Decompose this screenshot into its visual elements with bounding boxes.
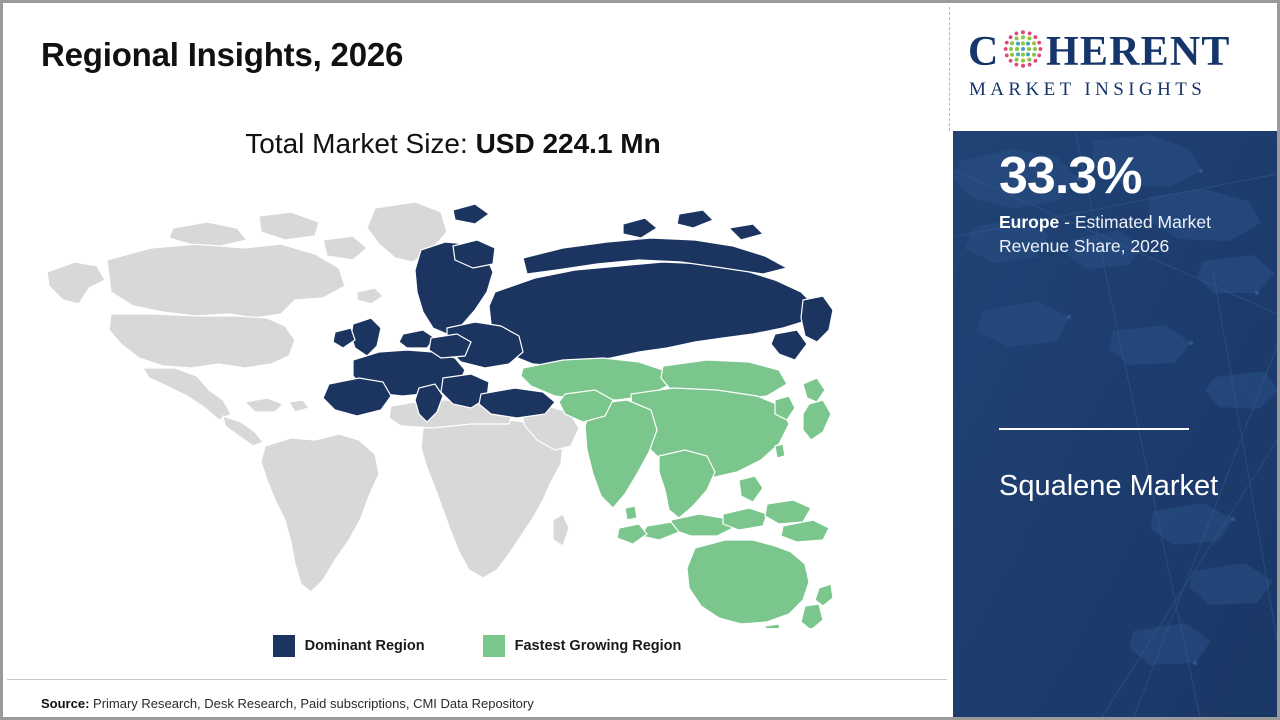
page-title: Regional Insights, 2026 [41, 36, 403, 74]
stat-caption: Europe - Estimated Market Revenue Share,… [999, 210, 1261, 260]
side-stat-panel: 33.3% Europe - Estimated Market Revenue … [953, 131, 1279, 719]
world-map [23, 188, 833, 628]
market-size-label: Total Market Size: [245, 128, 475, 159]
source-line: Source: Primary Research, Desk Research,… [41, 696, 534, 711]
source-text: Primary Research, Desk Research, Paid su… [89, 696, 533, 711]
stat-value: 33.3% [999, 149, 1261, 204]
map-legend: Dominant Region Fastest Growing Region [3, 635, 951, 657]
legend-item-dominant: Dominant Region [273, 635, 425, 657]
legend-swatch-navy [273, 635, 295, 657]
source-divider [7, 679, 947, 680]
globe-dots-icon [1002, 28, 1044, 70]
source-label: Source: [41, 696, 89, 711]
legend-swatch-green [483, 635, 505, 657]
vertical-dashed-divider [949, 7, 950, 131]
brand-logo: C HERENT [953, 7, 1279, 131]
main-content-pane: Regional Insights, 2026 Total Market Siz… [3, 3, 951, 717]
market-size-value: USD 224.1 Mn [476, 128, 661, 159]
legend-label-dominant: Dominant Region [305, 638, 425, 654]
total-market-size: Total Market Size: USD 224.1 Mn [3, 128, 903, 160]
market-name: Squalene Market [999, 465, 1249, 509]
logo-subtitle: MARKET INSIGHTS [969, 79, 1265, 101]
legend-item-fastest-growing: Fastest Growing Region [483, 635, 682, 657]
map-region-fastest-growing [521, 358, 833, 628]
logo-letters-rest: HERENT [1046, 27, 1231, 77]
infographic-frame: Regional Insights, 2026 Total Market Siz… [0, 0, 1280, 720]
legend-label-fastest-growing: Fastest Growing Region [515, 638, 682, 654]
panel-divider [999, 428, 1189, 430]
stat-region: Europe [999, 212, 1059, 232]
logo-letter-c: C [968, 27, 1000, 77]
